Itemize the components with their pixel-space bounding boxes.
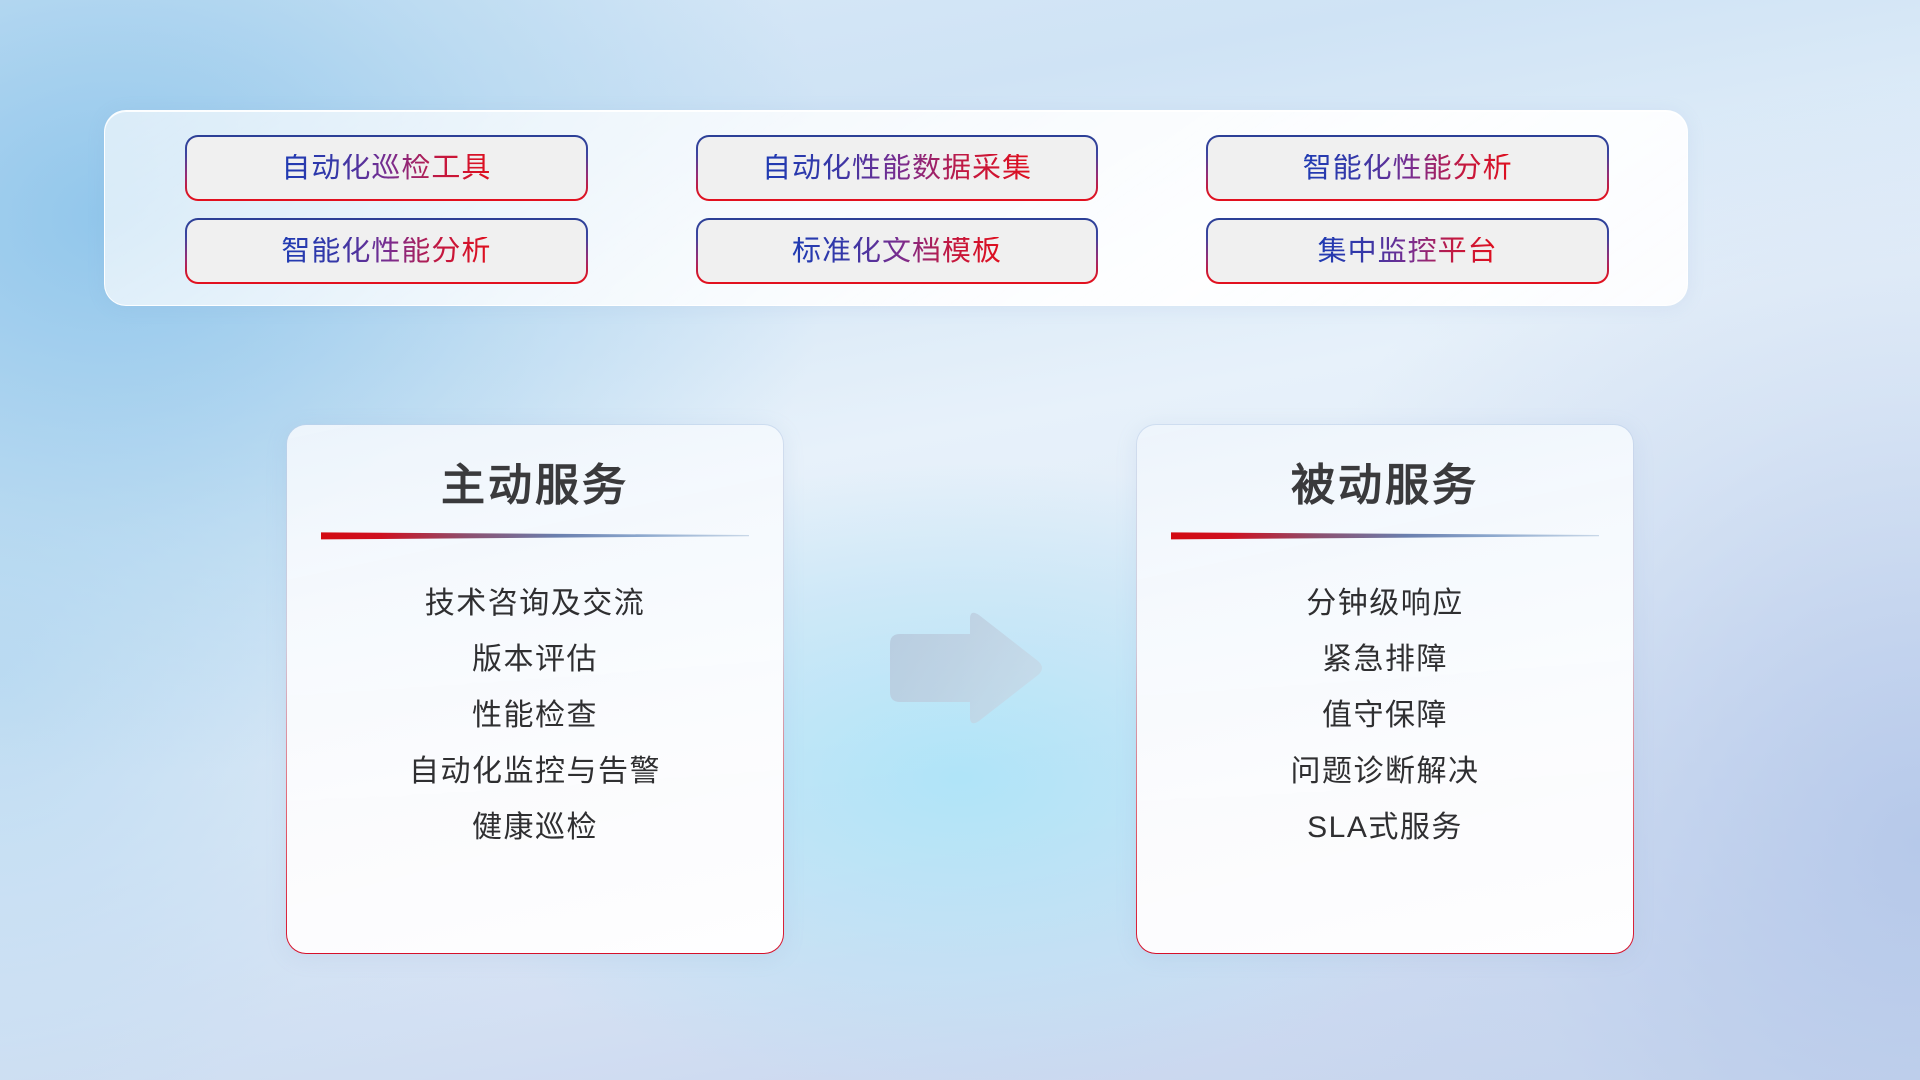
- title-divider: [1171, 531, 1599, 540]
- capability-pill-label: 智能化性能分析: [281, 237, 491, 266]
- service-card-title: 被动服务: [1137, 425, 1633, 509]
- service-list-item: 自动化监控与告警: [287, 744, 783, 800]
- service-list-item: 技术咨询及交流: [287, 576, 783, 632]
- capability-pill-label: 自动化性能数据采集: [762, 154, 1032, 183]
- service-card-proactive: 主动服务 技术咨询及交流 版本评估 性能检查: [286, 424, 784, 954]
- service-item-list: 分钟级响应 紧急排障 值守保障 问题诊断解决 SLA式服务: [1137, 540, 1633, 856]
- service-list-item: 问题诊断解决: [1137, 744, 1633, 800]
- service-item-list: 技术咨询及交流 版本评估 性能检查 自动化监控与告警 健康巡检: [287, 540, 783, 856]
- service-list-item: 紧急排障: [1137, 632, 1633, 688]
- capability-pill-5[interactable]: 集中监控平台: [1206, 218, 1609, 284]
- capability-pill-2[interactable]: 智能化性能分析: [1206, 135, 1609, 201]
- service-card-reactive: 被动服务 分钟级响应 紧急排障 值守保障: [1136, 424, 1634, 954]
- capability-panel: 自动化巡检工具 自动化性能数据采集 智能化性能分析 智能化性能分析 标准化文档模…: [104, 110, 1688, 306]
- capability-pill-0[interactable]: 自动化巡检工具: [185, 135, 588, 201]
- capability-pill-label: 自动化巡检工具: [281, 154, 491, 183]
- service-list-item: 值守保障: [1137, 688, 1633, 744]
- capability-pill-grid: 自动化巡检工具 自动化性能数据采集 智能化性能分析 智能化性能分析 标准化文档模…: [185, 135, 1609, 284]
- capability-pill-3[interactable]: 智能化性能分析: [185, 218, 588, 284]
- service-list-item: 性能检查: [287, 688, 783, 744]
- capability-pill-label: 集中监控平台: [1318, 237, 1498, 266]
- capability-pill-label: 智能化性能分析: [1303, 154, 1513, 183]
- slide-canvas: 自动化巡检工具 自动化性能数据采集 智能化性能分析 智能化性能分析 标准化文档模…: [0, 0, 1920, 1080]
- capability-pill-4[interactable]: 标准化文档模板: [696, 218, 1099, 284]
- capability-pill-label: 标准化文档模板: [792, 237, 1002, 266]
- service-list-item: 分钟级响应: [1137, 576, 1633, 632]
- service-card-title: 主动服务: [287, 425, 783, 509]
- service-list-item: 版本评估: [287, 632, 783, 688]
- service-list-item: 健康巡检: [287, 800, 783, 856]
- title-divider: [321, 531, 749, 540]
- service-list-item: SLA式服务: [1137, 800, 1633, 856]
- capability-pill-1[interactable]: 自动化性能数据采集: [696, 135, 1099, 201]
- arrow-right-icon: [878, 612, 1046, 724]
